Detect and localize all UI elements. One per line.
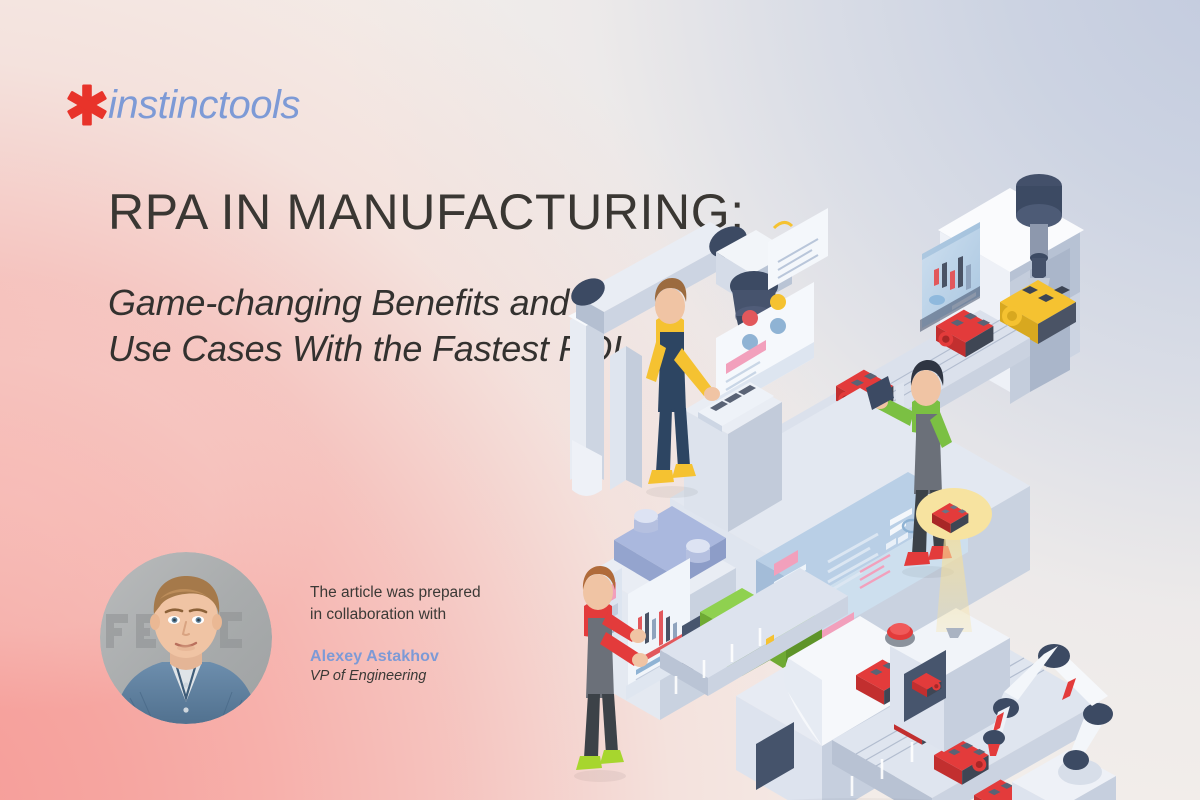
avatar-portrait-illustration — [100, 552, 272, 724]
info-panel-floating — [768, 208, 828, 290]
author-name: Alexey Astakhov — [310, 648, 570, 666]
brand-logo[interactable]: instinctools — [66, 82, 300, 128]
author-intro: The article was prepared in collaboratio… — [310, 582, 570, 626]
asterisk-icon — [66, 82, 108, 128]
author-intro-line-2: in collaboration with — [310, 606, 446, 623]
page-subtitle: Game-changing Benefits and Use Cases Wit… — [108, 280, 628, 372]
author-intro-line-1: The article was prepared — [310, 584, 481, 601]
avatar — [100, 552, 272, 724]
factory-scene-svg — [560, 120, 1200, 800]
poster-canvas: instinctools RPA IN MANUFACTURING: Game-… — [0, 0, 1200, 800]
brand-logo-text: instinctools — [108, 85, 300, 125]
author-role: VP of Engineering — [310, 668, 570, 684]
isometric-factory-illustration — [560, 120, 1200, 800]
author-block: The article was prepared in collaboratio… — [310, 582, 570, 684]
